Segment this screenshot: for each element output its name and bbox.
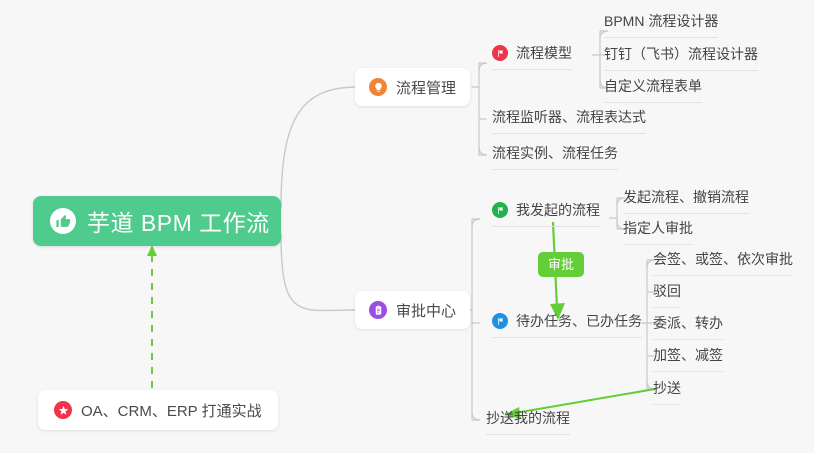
node-label-liucheng-moxing: 流程模型 bbox=[516, 43, 572, 63]
node-label-zhiding-shenpi: 指定人审批 bbox=[623, 218, 693, 238]
node-label-huiqian-huoqian: 会签、或签、依次审批 bbox=[653, 249, 793, 269]
branch-node-shenpi-zhongxin[interactable]: 审批中心 bbox=[355, 291, 470, 329]
branch-node-liucheng-guanli[interactable]: 流程管理 bbox=[355, 68, 470, 106]
root-label: 芋道 BPM 工作流 bbox=[87, 204, 270, 238]
node-custom-form[interactable]: 自定义流程表单 bbox=[604, 76, 702, 103]
node-weipai-zhuanban[interactable]: 委派、转办 bbox=[653, 313, 723, 340]
root-node[interactable]: 芋道 BPM 工作流 bbox=[33, 196, 281, 246]
node-bohui[interactable]: 驳回 bbox=[653, 281, 681, 308]
node-label-bpmn-designer: BPMN 流程设计器 bbox=[604, 11, 718, 31]
node-liucheng-moxing[interactable]: 流程模型 bbox=[492, 43, 572, 70]
node-wofaqi-liucheng[interactable]: 我发起的流程 bbox=[492, 200, 600, 227]
node-huiqian-huoqian[interactable]: 会签、或签、依次审批 bbox=[653, 249, 793, 276]
node-bpmn-designer[interactable]: BPMN 流程设计器 bbox=[604, 11, 718, 38]
node-label-wofaqi-liucheng: 我发起的流程 bbox=[516, 200, 600, 220]
connector-liucheng-bracket-corner-bottom bbox=[479, 147, 487, 155]
node-label-chaosong: 抄送 bbox=[653, 378, 681, 398]
node-label-liucheng-shili: 流程实例、流程任务 bbox=[492, 143, 618, 163]
connector-shenpi-corner-top bbox=[472, 219, 480, 227]
callout-shenpi-tag: 审批 bbox=[538, 252, 584, 277]
node-label-liucheng-jianting: 流程监听器、流程表达式 bbox=[492, 107, 646, 127]
flag-icon bbox=[492, 202, 508, 218]
node-label-weipai-zhuanban: 委派、转办 bbox=[653, 313, 723, 333]
node-dingding-designer[interactable]: 钉钉（飞书）流程设计器 bbox=[604, 44, 758, 71]
node-chaosong[interactable]: 抄送 bbox=[653, 378, 681, 405]
node-daiban-yiban[interactable]: 待办任务、已办任务 bbox=[492, 311, 642, 338]
node-jiaqian-jianqian[interactable]: 加签、减签 bbox=[653, 345, 723, 372]
node-liucheng-jianting[interactable]: 流程监听器、流程表达式 bbox=[492, 107, 646, 134]
mindmap-canvas: 芋道 BPM 工作流 流程管理 流程模型 流程监听器、流程表达式 流程实例、流程… bbox=[0, 0, 814, 453]
node-zhiding-shenpi[interactable]: 指定人审批 bbox=[623, 218, 693, 245]
node-label-jiaqian-jianqian: 加签、减签 bbox=[653, 345, 723, 365]
node-chaosong-wode-liucheng[interactable]: 抄送我的流程 bbox=[486, 408, 570, 435]
flag-icon bbox=[492, 45, 508, 61]
branch-label-liucheng-guanli: 流程管理 bbox=[396, 77, 456, 98]
node-label-faqi-chexiao: 发起流程、撤销流程 bbox=[623, 187, 749, 207]
node-label-chaosong-wode-liucheng: 抄送我的流程 bbox=[486, 408, 570, 428]
connector-root-to-shenpi-zhongxin bbox=[281, 234, 355, 311]
node-label-bohui: 驳回 bbox=[653, 281, 681, 301]
node-label-dingding-designer: 钉钉（飞书）流程设计器 bbox=[604, 44, 758, 64]
flag-icon bbox=[492, 313, 508, 329]
node-liucheng-shili[interactable]: 流程实例、流程任务 bbox=[492, 143, 618, 170]
connector-liucheng-bracket-corner-top bbox=[479, 63, 487, 71]
connector-shenpi-corner-bottom bbox=[472, 412, 480, 420]
star-icon bbox=[54, 401, 72, 419]
connector-liucheng-guanli-bracket bbox=[472, 63, 486, 155]
clipboard-icon bbox=[369, 301, 387, 319]
annotation-label-oa-crm-erp: OA、CRM、ERP 打通实战 bbox=[81, 400, 262, 421]
connector-root-to-liucheng-guanli bbox=[281, 87, 355, 208]
node-label-daiban-yiban: 待办任务、已办任务 bbox=[516, 311, 642, 331]
branch-label-shenpi-zhongxin: 审批中心 bbox=[396, 300, 456, 321]
dashed-arrow-annotation-to-root bbox=[147, 245, 157, 388]
thumbs-up-icon bbox=[50, 208, 76, 234]
callout-shenpi-label: 审批 bbox=[548, 257, 574, 272]
annotation-node-oa-crm-erp[interactable]: OA、CRM、ERP 打通实战 bbox=[38, 390, 278, 430]
node-label-custom-form: 自定义流程表单 bbox=[604, 76, 702, 96]
lightbulb-icon bbox=[369, 78, 387, 96]
node-faqi-chexiao[interactable]: 发起流程、撤销流程 bbox=[623, 187, 749, 214]
